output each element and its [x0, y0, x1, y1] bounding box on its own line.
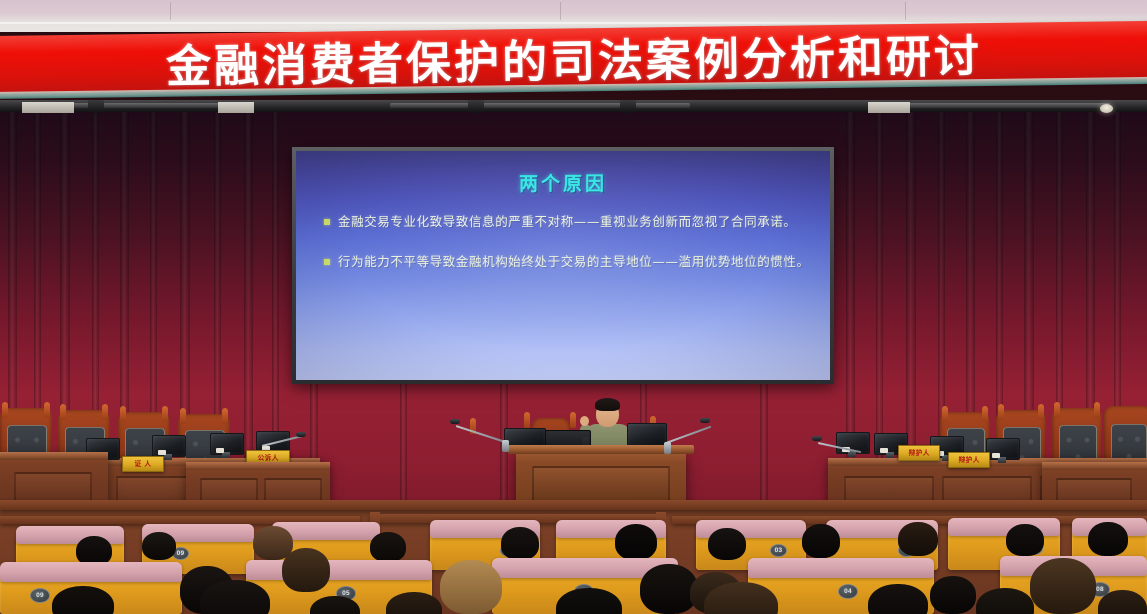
lecture-hall-photo: 金融消费者保护的司法案例分析和研讨 — [0, 0, 1147, 614]
front-rail — [0, 500, 1147, 510]
ceiling-panel-line — [170, 2, 171, 20]
slide-bullet-item: 行为能力不平等导致金融机构始终处于交易的主导地位——滥用优势地位的惯性。 — [324, 253, 812, 271]
nameplate-text: 辩护人 — [908, 448, 929, 458]
microphone-base — [664, 442, 671, 454]
audience-head — [370, 532, 406, 562]
audience-head — [1030, 558, 1096, 614]
bench-monitor — [836, 432, 868, 457]
audience-head — [282, 548, 330, 592]
chair-finial — [1038, 404, 1044, 420]
bench-monitor — [210, 433, 242, 458]
audience-head-front — [200, 580, 270, 614]
chair-finial — [998, 404, 1004, 420]
chair-finial — [162, 406, 168, 422]
seat-number-badge: 03 — [770, 544, 787, 557]
seat-number: 04 — [844, 588, 852, 595]
spotlight-icon — [1100, 104, 1113, 113]
microphone-icon — [296, 432, 306, 437]
nameplate-text: 证 人 — [134, 459, 151, 469]
ceiling-panel-line — [560, 2, 561, 20]
slide-bullet-list: 金融交易专业化致导致信息的严重不对称——重视业务创新而忽视了合同承诺。 行为能力… — [324, 213, 812, 287]
ceiling-vent — [22, 102, 74, 113]
seat-number-badge: 09 — [30, 588, 50, 603]
ceiling-vent — [218, 102, 254, 113]
seat-number: 09 — [177, 550, 185, 557]
microphone-icon — [812, 436, 822, 441]
microphone-icon — [700, 418, 710, 423]
microphone-icon — [450, 419, 460, 424]
spotlight-icon — [468, 100, 484, 113]
seat-number: 09 — [36, 592, 44, 599]
audience-head — [501, 527, 539, 560]
seat-number: 08 — [1096, 586, 1104, 593]
chair-finial — [1094, 402, 1100, 418]
chair-finial — [1054, 402, 1060, 418]
audience-head — [440, 560, 502, 614]
bench-nameplate: 辩护人 — [898, 445, 940, 461]
audience-head — [1088, 522, 1128, 556]
presenter-hair — [595, 398, 620, 411]
chair-finial — [120, 406, 126, 422]
bullet-square-icon — [324, 219, 330, 225]
audience-head — [898, 522, 938, 556]
chair-finial — [942, 406, 948, 422]
bench-nameplate: 辩护人 — [948, 452, 990, 468]
chair-finial — [102, 404, 108, 420]
bench-nameplate: 证 人 — [122, 456, 164, 472]
ceiling-track — [390, 103, 690, 108]
audience-head — [1006, 524, 1044, 556]
slide-bullet-text: 行为能力不平等导致金融机构始终处于交易的主导地位——滥用优势地位的惯性。 — [338, 253, 812, 271]
chair-finial — [982, 406, 988, 422]
audience-head — [802, 524, 840, 558]
chair-finial — [44, 402, 50, 418]
ceiling-panel-line — [905, 2, 906, 20]
seat-number-badge: 04 — [838, 584, 858, 599]
ceiling-vent — [868, 102, 910, 113]
chair-finial — [524, 412, 530, 428]
chair-finial — [180, 408, 186, 424]
chair-finial — [60, 404, 66, 420]
nameplate-text: 辩护人 — [958, 455, 979, 465]
audience-head — [142, 532, 176, 560]
bullet-square-icon — [324, 259, 330, 265]
slide-title: 两个原因 — [296, 169, 830, 196]
seat-number: 03 — [775, 547, 783, 554]
slide-bullet-text: 金融交易专业化致导致信息的严重不对称——重视业务创新而忽视了合同承诺。 — [338, 213, 812, 231]
chair-finial — [2, 402, 8, 418]
microphone-base — [502, 440, 509, 452]
projection-screen: 两个原因 金融交易专业化致导致信息的严重不对称——重视业务创新而忽视了合同承诺。… — [296, 151, 830, 380]
audience-head — [615, 524, 657, 560]
chair-finial — [222, 408, 228, 424]
projection-screen-frame: 两个原因 金融交易专业化致导致信息的严重不对称——重视业务创新而忽视了合同承诺。… — [292, 147, 834, 384]
spotlight-icon — [88, 100, 104, 113]
audience-head — [930, 576, 976, 614]
slide-bullet-item: 金融交易专业化致导致信息的严重不对称——重视业务创新而忽视了合同承诺。 — [324, 213, 812, 231]
presenter-hand — [580, 416, 589, 426]
bench-monitor — [986, 438, 1018, 463]
audience-head — [708, 528, 746, 560]
spotlight-icon — [620, 100, 636, 113]
chair-finial — [570, 412, 576, 428]
ceiling-track — [880, 103, 1110, 108]
